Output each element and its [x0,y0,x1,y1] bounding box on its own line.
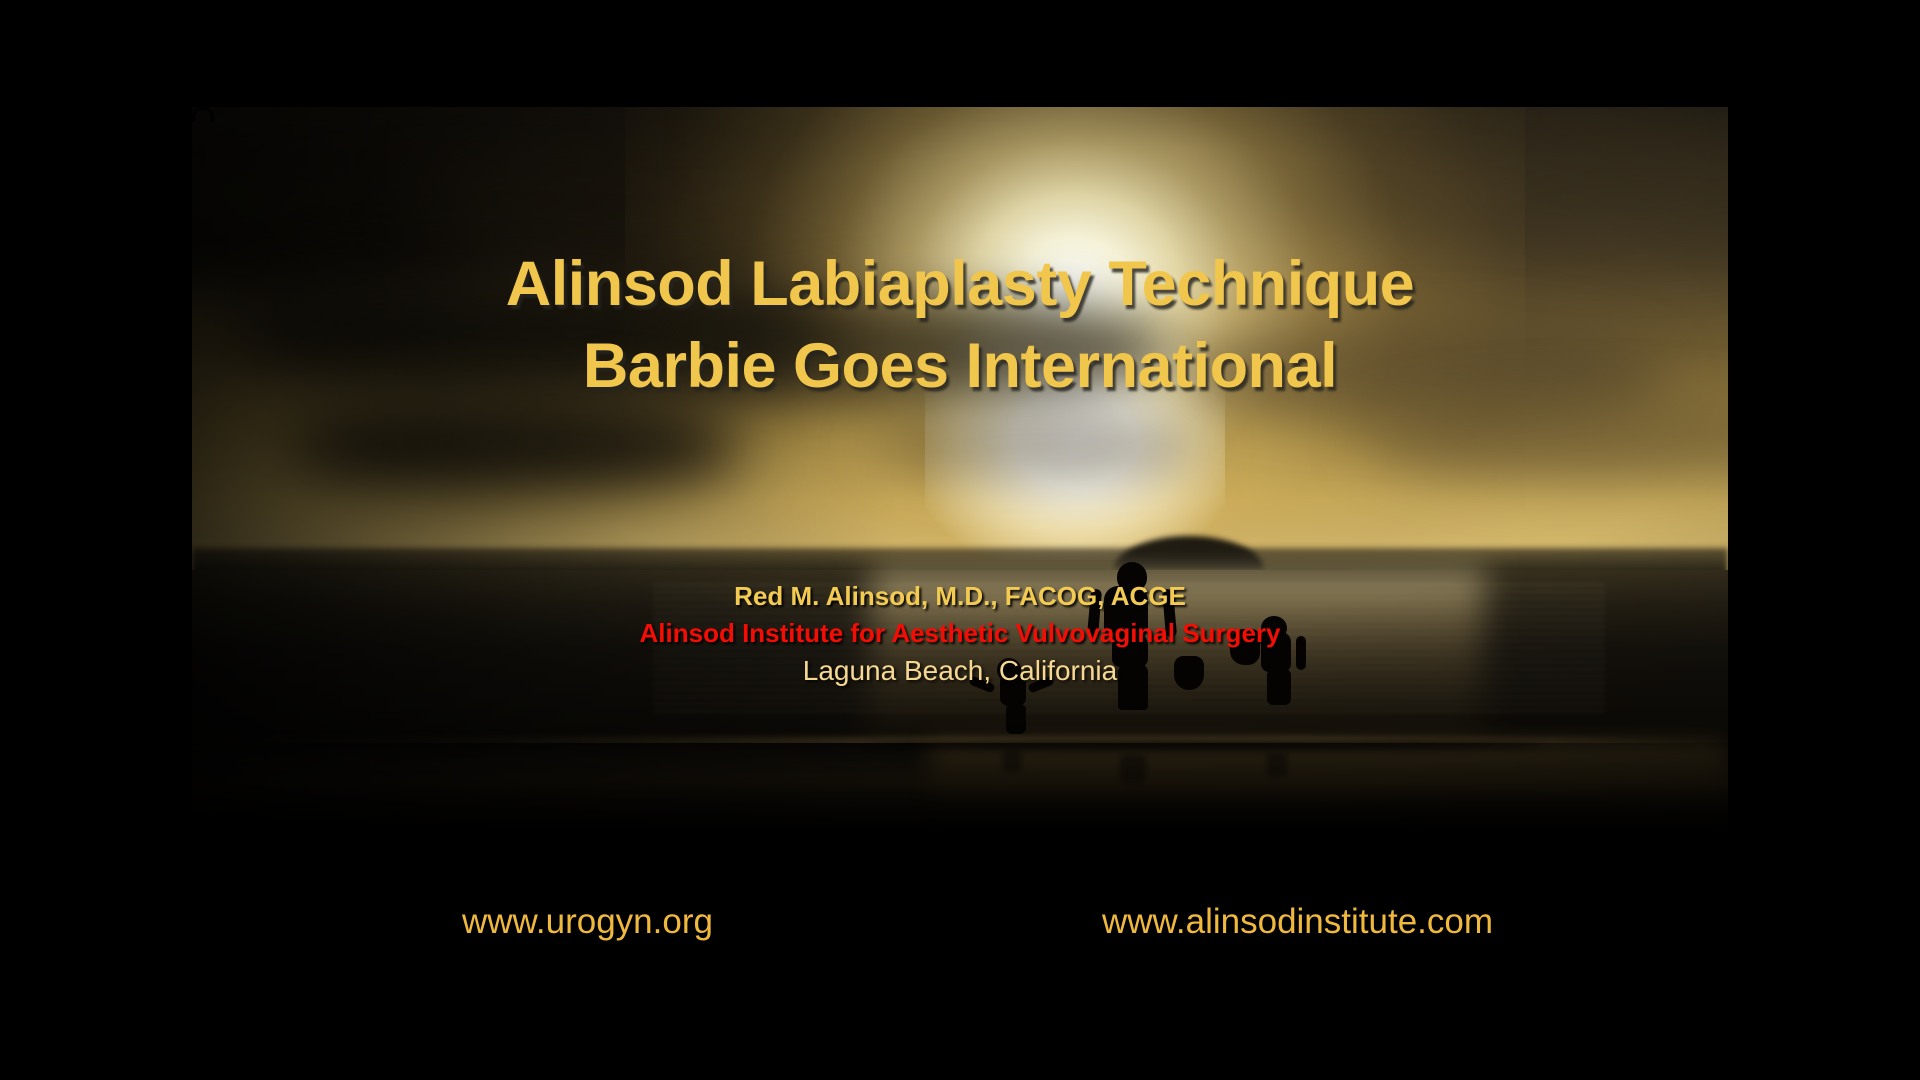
footer-url-urogyn[interactable]: www.urogyn.org [462,900,713,944]
presenter-location: Laguna Beach, California [0,652,1920,690]
title-line-2: Barbie Goes International [0,325,1920,407]
presenter-institute: Alinsod Institute for Aesthetic Vulvovag… [0,615,1920,652]
footer-bar: www.urogyn.org www.alinsodinstitute.com [192,900,1728,960]
slide-title: Alinsod Labiaplasty Technique Barbie Goe… [0,243,1920,407]
background-photo [192,107,1728,830]
title-line-1: Alinsod Labiaplasty Technique [0,243,1920,325]
sand-glow [929,743,1728,808]
presenter-block: Red M. Alinsod, M.D., FACOG, ACGE Alinso… [0,578,1920,690]
presenter-name: Red M. Alinsod, M.D., FACOG, ACGE [0,578,1920,615]
presentation-slide: Alinsod Labiaplasty Technique Barbie Goe… [0,0,1920,1080]
footer-url-alinsodinstitute[interactable]: www.alinsodinstitute.com [1102,900,1493,944]
